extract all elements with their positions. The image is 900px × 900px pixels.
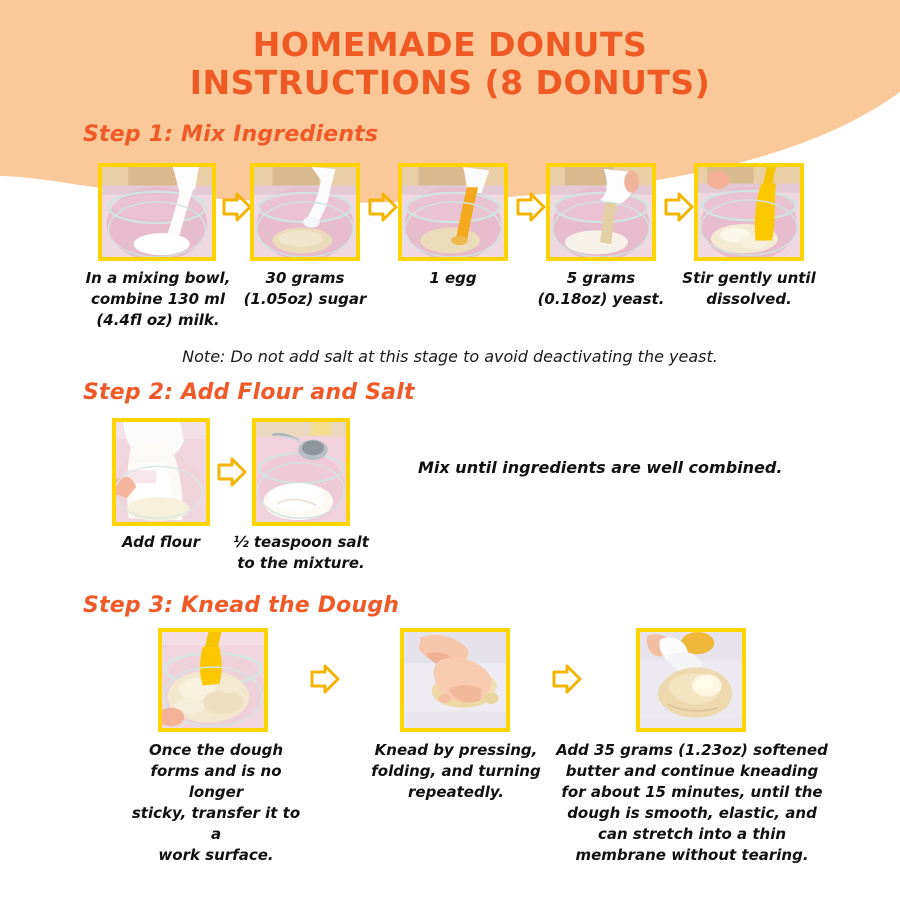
caption-milk-pouring-into-bowl: In a mixing bowl, combine 130 ml (4.4fl … xyxy=(78,268,238,331)
arrow-right-icon-5 xyxy=(215,455,249,489)
step-3-header: Step 3: Knead the Dough xyxy=(83,593,399,618)
photo-egg-being-added xyxy=(398,163,508,261)
arrow-right-icon-6 xyxy=(308,662,342,696)
arrow-right-icon-2 xyxy=(366,190,400,224)
step-1-note: Note: Do not add salt at this stage to a… xyxy=(0,347,900,366)
caption-dough-forming-in-bowl: Once the dough forms and is no longer st… xyxy=(126,740,306,866)
photo-dough-forming-in-bowl xyxy=(158,628,268,732)
step-1-header: Step 1: Mix Ingredients xyxy=(83,122,378,147)
caption-yeast-being-added: 5 grams (0.18oz) yeast. xyxy=(526,268,676,310)
photo-stirring-with-spatula xyxy=(694,163,804,261)
arrow-right-icon-3 xyxy=(514,190,548,224)
page-title: HOMEMADE DONUTS INSTRUCTIONS (8 DONUTS) xyxy=(0,26,900,102)
arrow-right-icon-1 xyxy=(220,190,254,224)
step-2-header: Step 2: Add Flour and Salt xyxy=(83,380,415,405)
photo-yeast-being-added xyxy=(546,163,656,261)
photo-milk-pouring-into-bowl xyxy=(98,163,216,261)
step-2-side-note: Mix until ingredients are well combined. xyxy=(418,458,782,477)
title-line-2: INSTRUCTIONS (8 DONUTS) xyxy=(0,64,900,102)
arrow-right-icon-7 xyxy=(550,662,584,696)
photo-sugar-being-added xyxy=(250,163,360,261)
arrow-right-icon-4 xyxy=(662,190,696,224)
caption-stirring-with-spatula: Stir gently until dissolved. xyxy=(674,268,824,310)
caption-adding-butter-to-dough: Add 35 grams (1.23oz) softened butter an… xyxy=(553,740,831,866)
caption-flour-being-poured: Add flour xyxy=(96,532,226,553)
photo-salt-spoon-over-flour xyxy=(252,418,350,526)
caption-egg-being-added: 1 egg xyxy=(388,268,518,289)
caption-salt-spoon-over-flour: ½ teaspoon salt to the mixture. xyxy=(226,532,376,574)
title-line-1: HOMEMADE DONUTS xyxy=(0,26,900,64)
infographic-canvas: HOMEMADE DONUTS INSTRUCTIONS (8 DONUTS) … xyxy=(0,0,900,900)
caption-sugar-being-added: 30 grams (1.05oz) sugar xyxy=(230,268,380,310)
photo-flour-being-poured xyxy=(112,418,210,526)
caption-hands-kneading-dough: Knead by pressing, folding, and turning … xyxy=(363,740,549,803)
photo-adding-butter-to-dough xyxy=(636,628,746,732)
photo-hands-kneading-dough xyxy=(400,628,510,732)
